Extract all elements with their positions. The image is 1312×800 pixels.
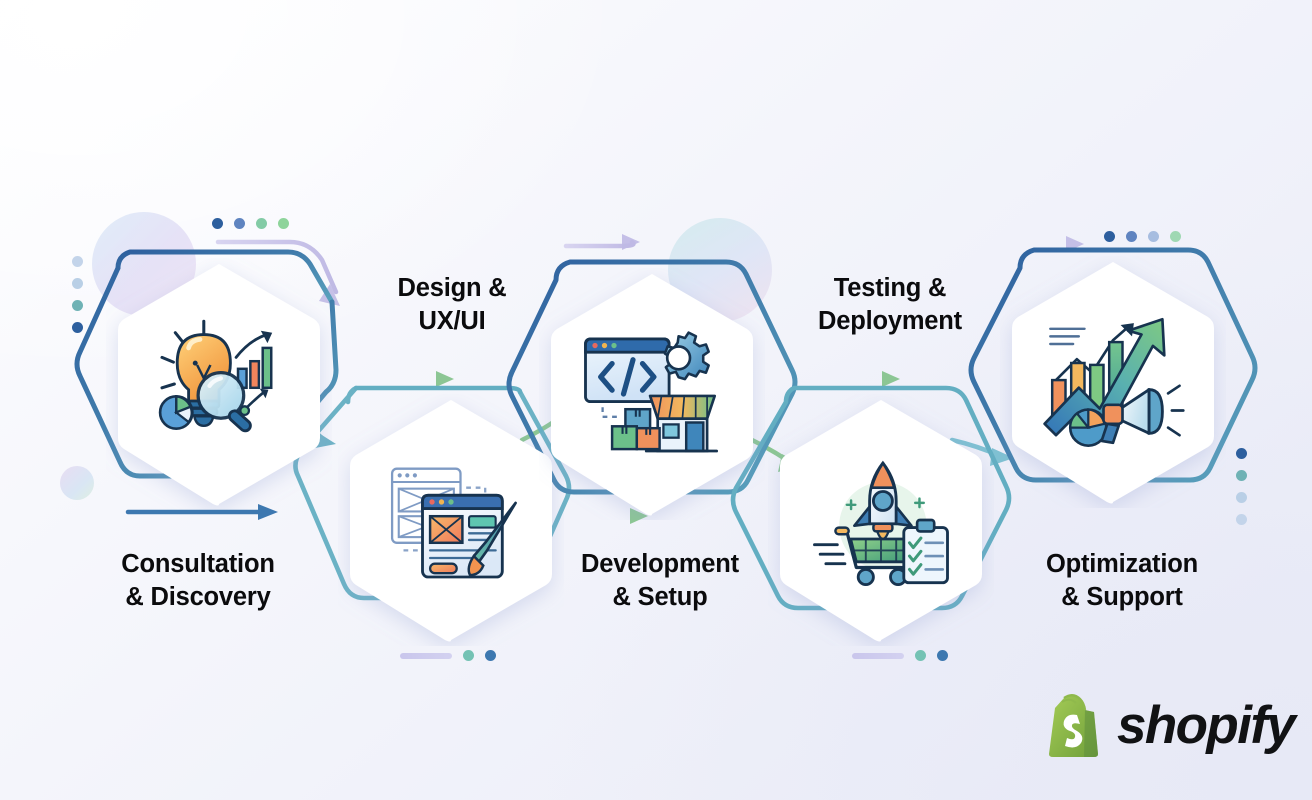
decor-dot — [72, 322, 83, 333]
decor-dot — [485, 650, 496, 661]
decor-dot — [463, 650, 474, 661]
decor-dot — [1236, 492, 1247, 503]
decor-dots-left-vertical — [72, 256, 83, 333]
step-4-label: Testing & Deployment — [760, 272, 1020, 338]
decor-marks-bottom-left — [400, 650, 496, 661]
shopify-logo-lockup: shopify — [1044, 692, 1294, 758]
decor-dot — [212, 218, 223, 229]
code-storefront-gear-icon — [539, 268, 765, 520]
decor-dot — [1236, 514, 1247, 525]
decor-dot — [1104, 231, 1115, 242]
decor-dot — [256, 218, 267, 229]
decor-dots-top-left — [212, 218, 289, 229]
decor-dots-top-right — [1104, 231, 1181, 242]
decor-dot — [72, 256, 83, 267]
step-1-label: Consultation & Discovery — [68, 548, 328, 614]
step-1-hexagon[interactable] — [106, 258, 332, 510]
lightbulb-magnifier-chart-icon — [106, 258, 332, 510]
decor-dots-right-vertical — [1236, 448, 1247, 525]
decor-dot — [1236, 470, 1247, 481]
decor-dot — [1170, 231, 1181, 242]
step-3-label: Development & Setup — [530, 548, 790, 614]
rocket-cart-checklist-icon — [768, 394, 994, 646]
decor-dot — [72, 300, 83, 311]
decor-dot — [1148, 231, 1159, 242]
decor-dot — [278, 218, 289, 229]
shopify-wordmark: shopify — [1117, 699, 1294, 752]
decor-dot — [915, 650, 926, 661]
step-4-hexagon[interactable] — [768, 394, 994, 646]
decor-dot — [937, 650, 948, 661]
shopify-bag-logo — [1044, 692, 1102, 758]
step-5-label: Optimization & Support — [992, 548, 1252, 614]
step-3-hexagon[interactable] — [539, 268, 765, 520]
decor-dot — [72, 278, 83, 289]
decor-dot — [1236, 448, 1247, 459]
decor-dot — [234, 218, 245, 229]
step-5-hexagon[interactable] — [1000, 256, 1226, 508]
infographic-canvas: Consultation & Discovery — [0, 0, 1312, 800]
decor-dot — [1126, 231, 1137, 242]
decor-circle-small-left — [60, 466, 94, 500]
growth-arrow-megaphone-icon — [1000, 256, 1226, 508]
decor-marks-bottom-right — [852, 650, 948, 661]
